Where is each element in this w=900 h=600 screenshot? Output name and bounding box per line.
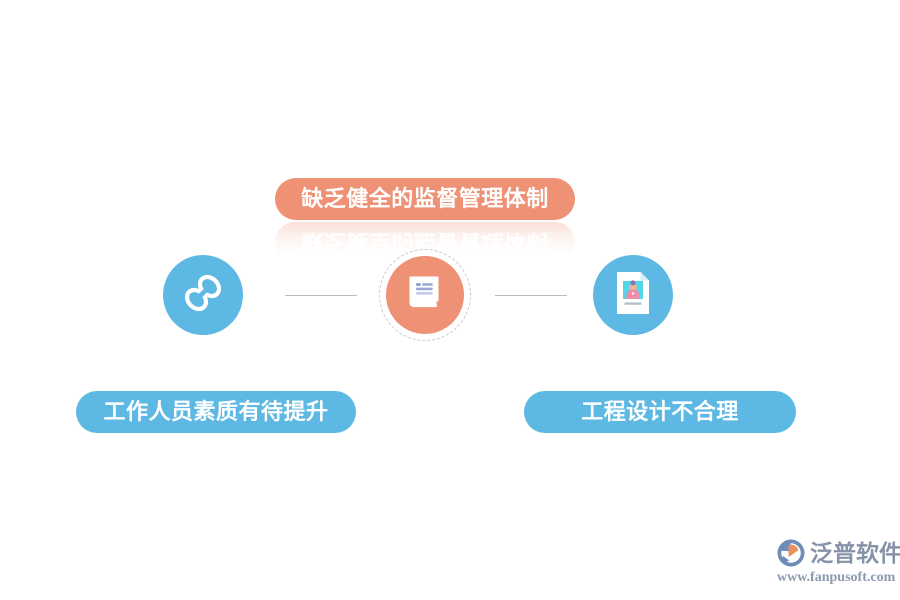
node-right-label-pill[interactable]: 工程设计不合理 (524, 391, 796, 433)
node-right-label: 工程设计不合理 (581, 401, 739, 423)
chain-link-icon (181, 271, 225, 320)
connector-line-right (495, 295, 567, 296)
fanpu-logo-icon (776, 538, 806, 568)
node-left-label: 工作人员素质有待提升 (103, 401, 328, 423)
node-left-circle[interactable] (163, 255, 243, 335)
watermark-logo: 泛普软件 www.fanpusoft.com (776, 538, 900, 585)
node-center-circle[interactable] (386, 256, 464, 334)
diagram-canvas: 缺乏健全的监督管理体制 缺乏健全的监督管理体制 (0, 0, 900, 600)
watermark-url: www.fanpusoft.com (777, 571, 895, 585)
title-node-label: 缺乏健全的监督管理体制 (301, 188, 549, 210)
id-card-icon (610, 268, 656, 323)
watermark-logo-row: 泛普软件 (776, 538, 900, 568)
title-node-pill[interactable]: 缺乏健全的监督管理体制 (275, 178, 575, 220)
connector-line-left (285, 295, 357, 296)
node-left-label-pill[interactable]: 工作人员素质有待提升 (76, 391, 356, 433)
scroll-document-icon (402, 270, 448, 321)
node-right-circle[interactable] (593, 255, 673, 335)
watermark-brand: 泛普软件 (810, 542, 900, 565)
